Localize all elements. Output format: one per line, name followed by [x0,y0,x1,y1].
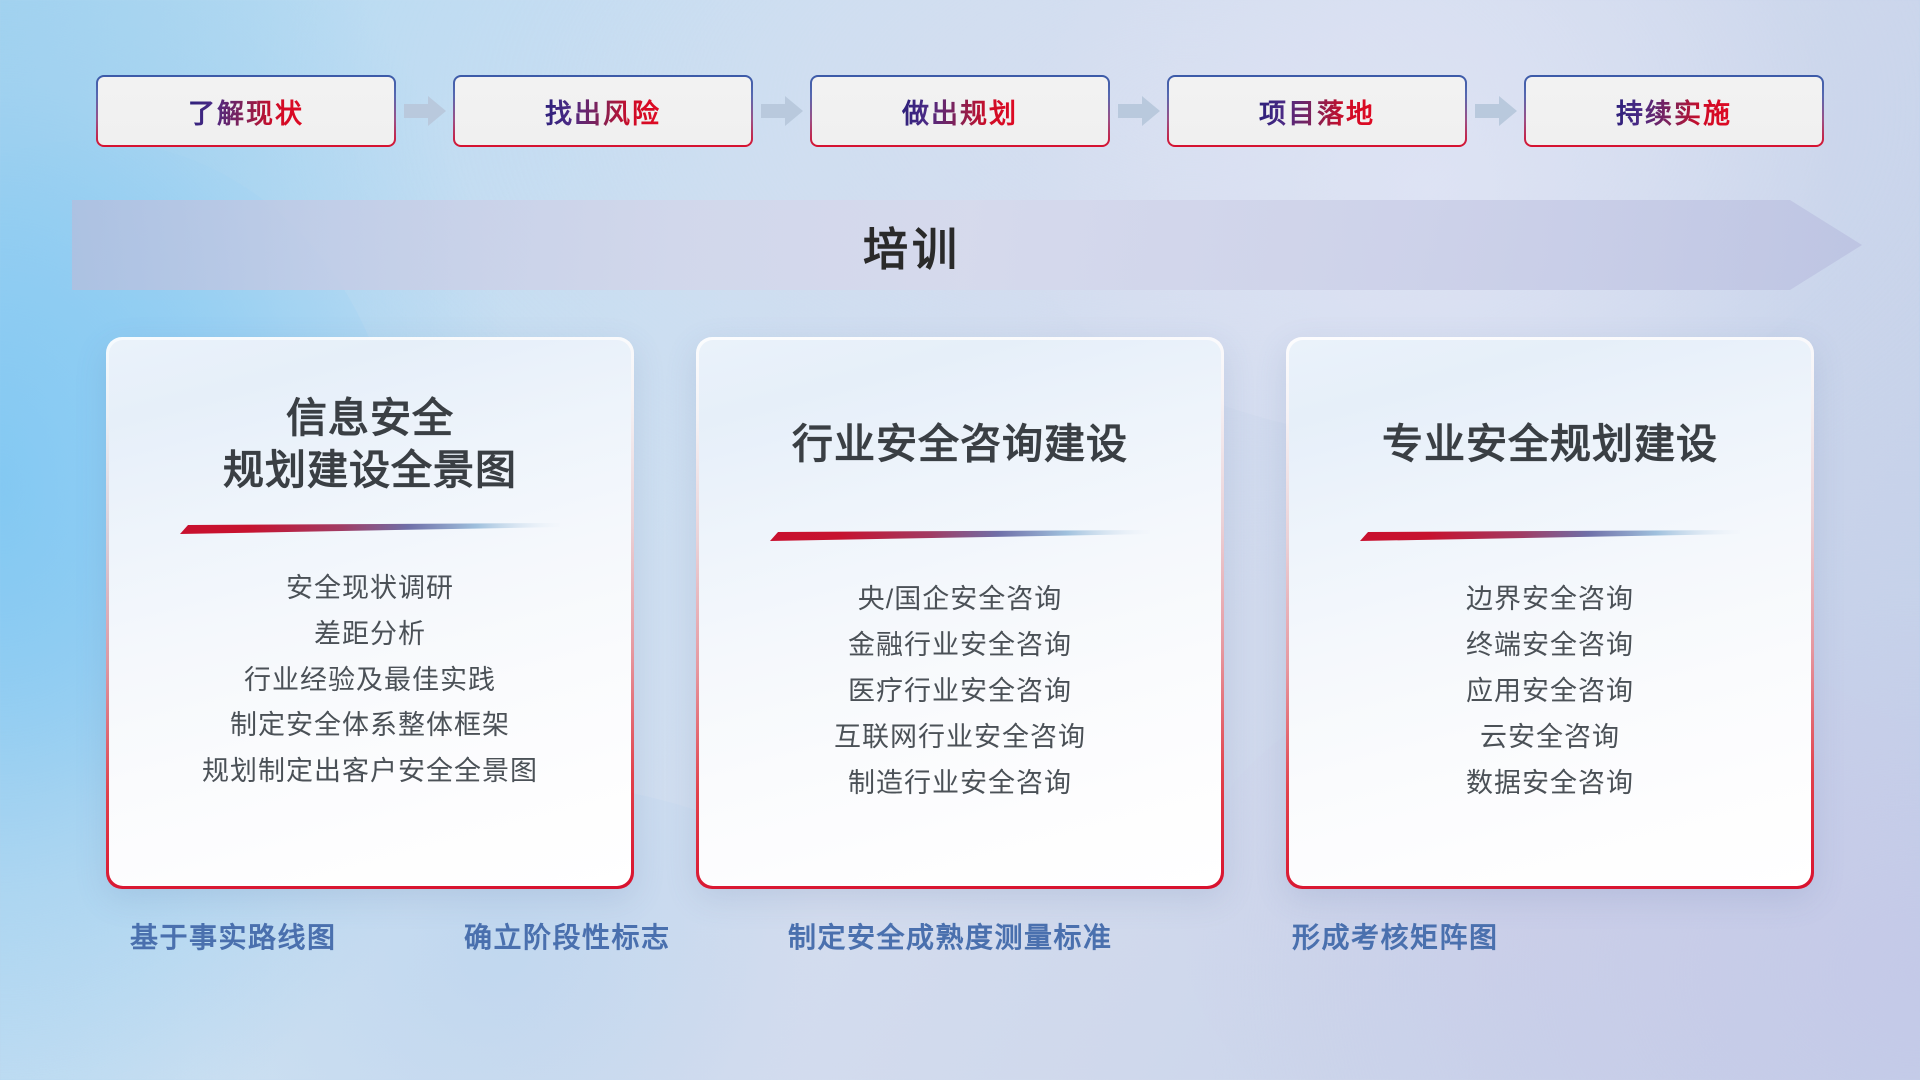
card-professional-security-planning[interactable]: 专业安全规划建设 [1286,337,1814,889]
footer-label-maturity: 制定安全成熟度测量标准 [788,916,1113,956]
process-step-row: 了解现状 找出风险 做出规划 项目落地 持续实施 [0,72,1920,150]
card-item-list: 央/国企安全咨询 金融行业安全咨询 医疗行业安全咨询 互联网行业安全咨询 制造行… [834,579,1086,804]
list-item: 云安全咨询 [1480,717,1620,759]
process-step-2[interactable]: 找出风险 [453,75,753,147]
arrow-right-icon [753,72,810,150]
process-step-label: 找出风险 [545,92,661,131]
list-item: 安全现状调研 [286,568,454,610]
card-row: 信息安全 规划建设全景图 [0,337,1920,889]
list-item: 制造行业安全咨询 [848,763,1072,805]
card-title-line: 信息安全 [223,392,517,444]
card-title: 信息安全 规划建设全景图 [223,392,517,497]
footer-label-matrix: 形成考核矩阵图 [1292,916,1499,956]
card-divider [770,530,1150,543]
process-step-label: 做出规划 [902,92,1018,131]
list-item: 金融行业安全咨询 [848,625,1072,667]
list-item: 终端安全咨询 [1466,625,1634,667]
list-item: 数据安全咨询 [1466,763,1634,805]
list-item: 互联网行业安全咨询 [834,717,1086,759]
card-info-security-panorama[interactable]: 信息安全 规划建设全景图 [106,337,634,889]
process-step-label: 项目落地 [1259,92,1375,131]
list-item: 规划制定出客户安全全景图 [202,751,538,793]
card-divider [180,523,560,536]
list-item: 行业经验及最佳实践 [244,660,496,702]
banner-title: 培训 [72,200,1862,290]
training-banner: 培训 [72,200,1862,290]
list-item: 制定安全体系整体框架 [230,705,510,747]
process-step-label: 持续实施 [1616,92,1732,131]
list-item: 央/国企安全咨询 [858,579,1063,621]
card-item-list: 安全现状调研 差距分析 行业经验及最佳实践 制定安全体系整体框架 规划制定出客户… [202,568,538,793]
list-item: 医疗行业安全咨询 [848,671,1072,713]
footer-label-roadmap: 基于事实路线图 [130,916,337,956]
process-step-3[interactable]: 做出规划 [810,75,1110,147]
process-step-label: 了解现状 [188,92,304,131]
arrow-right-icon [1110,72,1167,150]
process-step-1[interactable]: 了解现状 [96,75,396,147]
list-item: 应用安全咨询 [1466,671,1634,713]
process-step-4[interactable]: 项目落地 [1167,75,1467,147]
card-title-line: 规划建设全景图 [223,444,517,496]
card-title: 专业安全规划建设 [1382,418,1718,470]
process-step-5[interactable]: 持续实施 [1524,75,1824,147]
card-body: 专业安全规划建设 [1289,340,1811,886]
card-title-line: 专业安全规划建设 [1382,418,1718,470]
arrow-right-icon [1467,72,1524,150]
card-title-line: 行业安全咨询建设 [792,418,1128,470]
footer-label-milestones: 确立阶段性标志 [464,916,671,956]
arrow-right-icon [396,72,453,150]
list-item: 差距分析 [314,614,426,656]
card-title: 行业安全咨询建设 [792,418,1128,470]
card-item-list: 边界安全咨询 终端安全咨询 应用安全咨询 云安全咨询 数据安全咨询 [1466,579,1634,804]
card-divider [1360,530,1740,543]
list-item: 边界安全咨询 [1466,579,1634,621]
card-body: 信息安全 规划建设全景图 [109,340,631,886]
card-body: 行业安全咨询建设 [699,340,1221,886]
card-industry-security-consulting[interactable]: 行业安全咨询建设 [696,337,1224,889]
footer-label-row: 基于事实路线图 确立阶段性标志 制定安全成熟度测量标准 形成考核矩阵图 [0,916,1920,964]
